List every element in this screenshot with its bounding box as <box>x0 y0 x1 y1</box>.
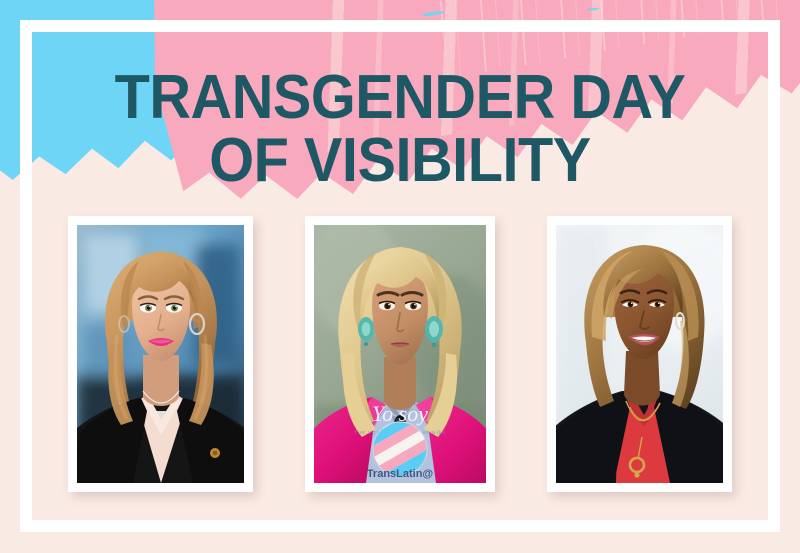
portrait-card-2: Yo soy THE VOICE OF TRANSLATIN@S <box>305 216 495 492</box>
portrait-photo-3 <box>556 225 723 483</box>
portrait-photo-1 <box>77 225 244 483</box>
portrait-photo-2: Yo soy THE VOICE OF TRANSLATIN@S <box>314 225 486 483</box>
title-line-2: OF VISIBILITY <box>28 132 772 189</box>
portrait-card-3 <box>547 216 732 492</box>
title-line-1: TRANSGENDER DAY <box>28 69 772 126</box>
shirt-brand-text: TransLatin@ <box>367 468 434 480</box>
poster-canvas: TRANSGENDER DAY OF VISIBILITY <box>0 0 800 553</box>
page-title: TRANSGENDER DAY OF VISIBILITY <box>0 69 800 189</box>
portrait-card-1 <box>68 216 253 492</box>
portrait-gallery: Yo soy THE VOICE OF TRANSLATIN@S <box>0 216 800 506</box>
